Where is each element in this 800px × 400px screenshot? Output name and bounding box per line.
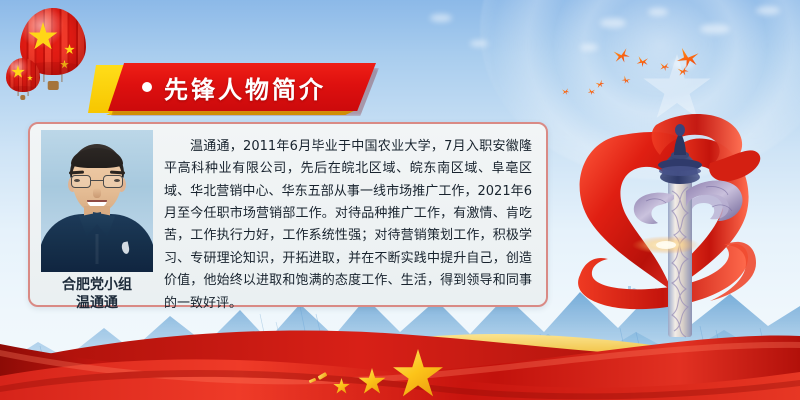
- section-title-banner: 先锋人物简介: [88, 63, 378, 115]
- profile-card: 合肥党小组 温通通 温通通，2011年6月毕业于中国农业大学，7月入职安徽隆平高…: [28, 122, 548, 307]
- gold-star-spark-icon: [309, 378, 317, 384]
- bullet-dot-icon: [142, 82, 152, 92]
- caption-group: 合肥党小组: [62, 277, 132, 295]
- bird-icon: [660, 62, 670, 72]
- gold-star-spark-icon: [318, 372, 328, 380]
- cloud-dot-icon: [580, 44, 598, 51]
- portrait-column: 合肥党小组 温通通: [30, 124, 158, 305]
- bird-icon: [621, 75, 632, 86]
- bird-icon: [612, 46, 631, 65]
- hot-air-balloon-icon: [20, 8, 86, 90]
- bird-icon: [676, 64, 689, 77]
- biography-text: 温通通，2011年6月毕业于中国农业大学，7月入职安徽隆平高科种业有限公司，先后…: [164, 136, 532, 315]
- gold-star-icon: [358, 368, 386, 396]
- banner-red-body: 先锋人物简介: [108, 63, 376, 111]
- cloud-dot-icon: [672, 60, 694, 68]
- hot-air-balloon-icon: [6, 58, 40, 100]
- page-title: 先锋人物简介: [164, 70, 326, 105]
- cloud-dot-icon: [470, 40, 488, 47]
- cloud-dot-icon: [430, 14, 452, 22]
- ribbon-heart-emblem: [560, 95, 800, 345]
- cloud-dot-icon: [648, 8, 668, 16]
- gold-star-icon: [333, 378, 350, 395]
- cloud-dot-icon: [756, 6, 780, 15]
- bird-icon: [676, 46, 700, 70]
- bird-icon: [595, 79, 606, 90]
- cloud-dot-icon: [700, 24, 730, 34]
- bird-icon: [587, 87, 595, 95]
- background-star-decoration: [642, 54, 712, 124]
- gold-star-icon: [392, 349, 444, 400]
- biography-column: 温通通，2011年6月毕业于中国农业大学，7月入职安徽隆平高科种业有限公司，先后…: [158, 124, 546, 305]
- bird-icon: [636, 55, 648, 67]
- bird-icon: [561, 87, 569, 95]
- poster-canvas: 先锋人物简介: [0, 0, 800, 400]
- portrait-photo: [41, 130, 153, 272]
- portrait-caption: 合肥党小组 温通通: [62, 277, 132, 312]
- cloud-dot-icon: [600, 18, 626, 28]
- eyeglasses-icon: [71, 175, 123, 188]
- caption-name: 温通通: [62, 295, 132, 313]
